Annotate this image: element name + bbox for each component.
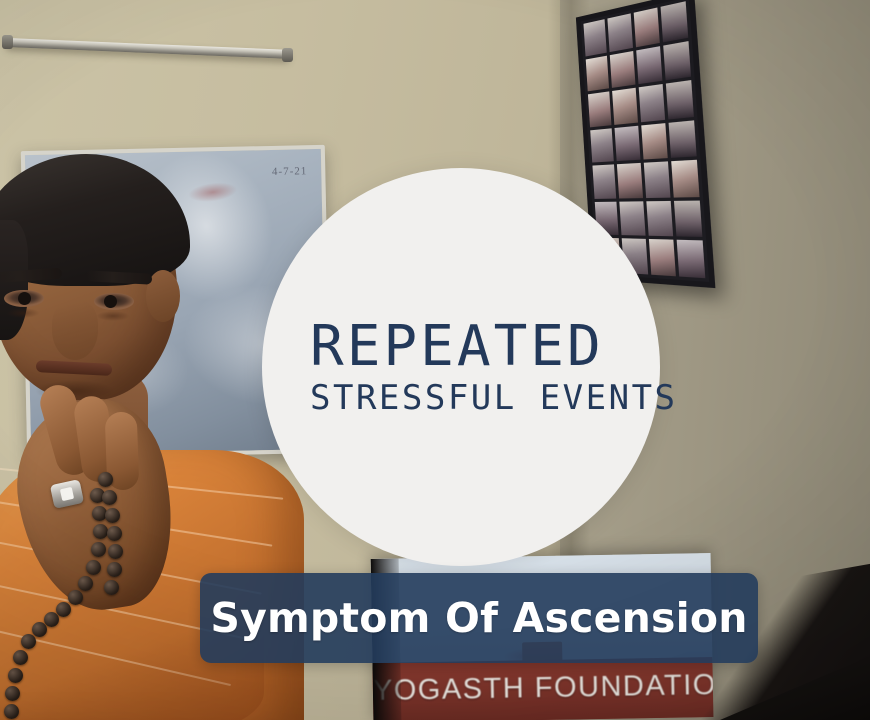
headline-primary: REPEATED xyxy=(310,318,650,375)
title-banner: Symptom Of Ascension xyxy=(200,573,758,663)
video-thumbnail-frame: 4-7-21 xyxy=(0,0,870,720)
headline-secondary: STRESSFUL EVENTS xyxy=(310,381,650,417)
headline-circle-overlay: REPEATED STRESSFUL EVENTS xyxy=(262,168,660,566)
title-banner-text: Symptom Of Ascension xyxy=(210,594,747,642)
